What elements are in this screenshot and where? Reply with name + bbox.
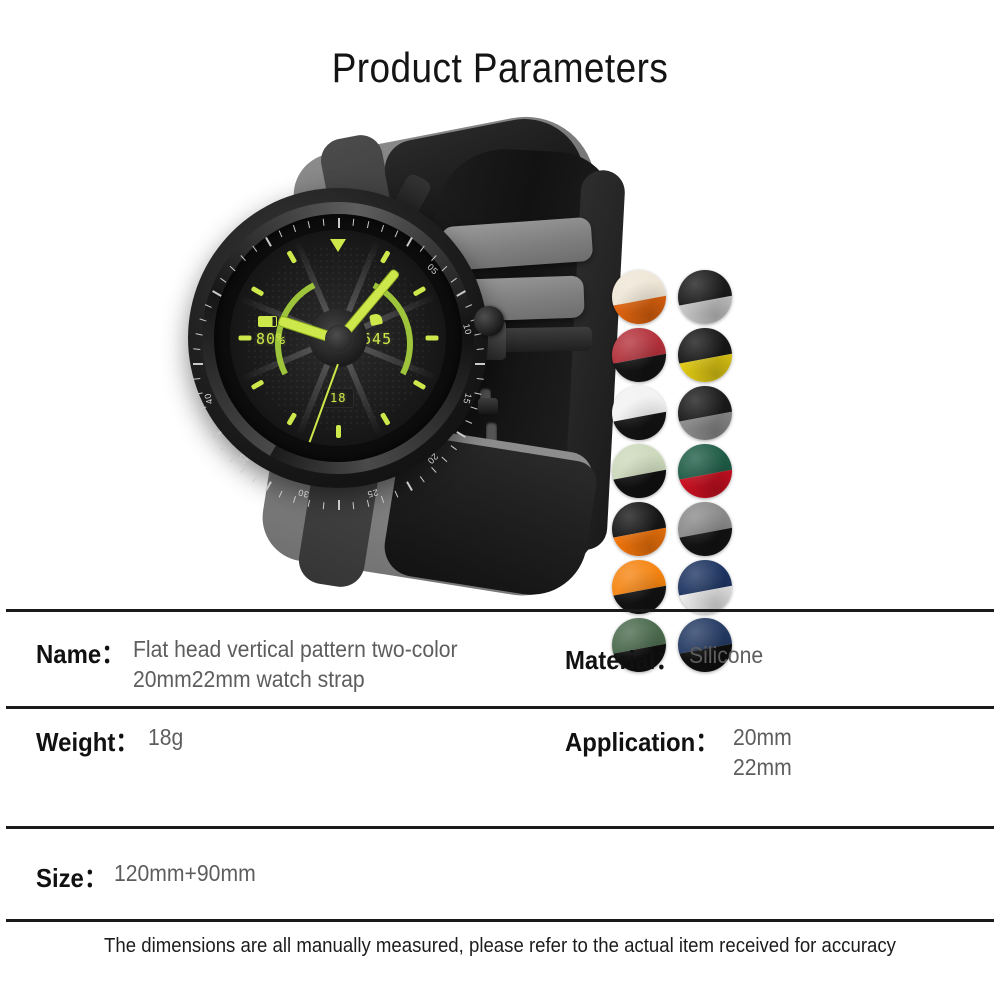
swatch-gloss	[678, 270, 732, 324]
spec-label-material: Material：	[565, 640, 679, 677]
spec-label-application: Application：	[565, 722, 719, 759]
swatch-gloss	[678, 386, 732, 440]
spec-row-material: Material： Silicone	[565, 640, 770, 677]
table-divider	[6, 706, 994, 709]
color-swatch-black-orange[interactable]	[612, 502, 666, 556]
dial-hour-marker	[425, 336, 438, 341]
color-swatch-black-yellow[interactable]	[678, 328, 732, 382]
bezel-tick	[477, 348, 484, 350]
table-divider	[6, 919, 994, 922]
color-swatch-black-silver[interactable]	[678, 270, 732, 324]
bezel-tick	[338, 500, 340, 510]
swatch-gloss	[678, 560, 732, 614]
bezel-tick	[220, 445, 226, 450]
bezel-tick	[477, 378, 484, 380]
watch-crown	[474, 306, 504, 336]
swatch-gloss	[612, 560, 666, 614]
bezel-tick	[212, 431, 222, 438]
battery-icon	[258, 316, 277, 327]
swatch-gloss	[612, 386, 666, 440]
bezel-tick	[240, 467, 245, 473]
bezel-tick	[279, 230, 283, 237]
bezel-tick	[475, 363, 485, 365]
bezel-tick	[323, 219, 325, 226]
footer-disclaimer: The dimensions are all manually measured…	[35, 935, 965, 958]
color-swatch-sage-black[interactable]	[612, 444, 666, 498]
bezel-tick	[308, 221, 310, 228]
spec-value-material: Silicone	[689, 640, 763, 670]
color-swatch-cream-orange[interactable]	[612, 270, 666, 324]
color-swatch-green-red[interactable]	[678, 444, 732, 498]
bezel-number: 35	[235, 450, 252, 467]
spec-label-size: Size：	[36, 858, 108, 895]
dial-center-cap	[325, 325, 353, 353]
color-swatch-gray-black[interactable]	[678, 502, 732, 556]
color-swatch-white-black[interactable]	[612, 386, 666, 440]
dial-hour-marker	[238, 336, 251, 341]
bezel-number: 15	[461, 391, 474, 407]
spec-row-name: Name： Flat head vertical pattern two-col…	[36, 634, 563, 695]
swatch-gloss	[612, 270, 666, 324]
bezel-tick	[395, 230, 399, 237]
bezel-tick	[196, 333, 203, 335]
swatch-gloss	[612, 328, 666, 382]
spec-label-name: Name：	[36, 634, 125, 671]
watch-side-button	[478, 398, 498, 414]
swatch-gloss	[678, 444, 732, 498]
bezel-tick	[252, 476, 257, 482]
page-title: Product Parameters	[60, 44, 940, 92]
bezel-tick	[293, 225, 296, 232]
bezel-tick	[367, 221, 369, 228]
battery-percent: 80%	[256, 330, 286, 348]
spec-value-name: Flat head vertical pattern two-color 20m…	[133, 634, 529, 695]
color-swatch-grid[interactable]	[612, 270, 752, 680]
bezel-tick	[265, 237, 272, 247]
color-swatch-orange-black[interactable]	[612, 560, 666, 614]
spec-row-size: Size： 120mm+90mm	[36, 858, 268, 895]
bezel-tick	[406, 237, 413, 247]
color-swatch-navy-white[interactable]	[678, 560, 732, 614]
spec-value-application: 20mm 22mm	[733, 722, 792, 783]
dial-hour-marker	[336, 425, 341, 438]
table-divider	[6, 826, 994, 829]
bezel-tick	[252, 246, 257, 252]
spec-value-size: 120mm+90mm	[114, 858, 256, 888]
swatch-gloss	[678, 502, 732, 556]
color-swatch-red-black[interactable]	[612, 328, 666, 382]
bezel-tick	[420, 246, 425, 252]
dial-triangle-marker	[330, 239, 346, 252]
bezel-tick	[199, 406, 206, 409]
bezel-tick	[193, 378, 200, 380]
bezel-tick	[193, 363, 203, 365]
swatch-gloss	[612, 444, 666, 498]
color-swatch-black-gray[interactable]	[678, 386, 732, 440]
spec-value-weight: 18g	[148, 722, 183, 752]
swatch-gloss	[678, 328, 732, 382]
product-image: 0510152025303540 80% 7645 18	[180, 130, 600, 570]
spec-row-weight: Weight： 18g	[36, 722, 187, 759]
hero-section: 0510152025303540 80% 7645 18	[0, 120, 1000, 590]
bezel-tick	[338, 218, 340, 228]
spec-label-weight: Weight：	[36, 722, 139, 759]
table-divider	[6, 609, 994, 612]
bezel-tick	[193, 348, 200, 350]
watch-dial: 80% 7645 18	[230, 230, 446, 446]
bezel-tick	[353, 219, 355, 226]
bezel-tick	[205, 420, 212, 424]
bezel-tick	[381, 225, 384, 232]
swatch-gloss	[612, 502, 666, 556]
watch-case: 0510152025303540 80% 7645 18	[188, 188, 488, 488]
spec-row-application: Application： 20mm 22mm	[565, 722, 796, 783]
